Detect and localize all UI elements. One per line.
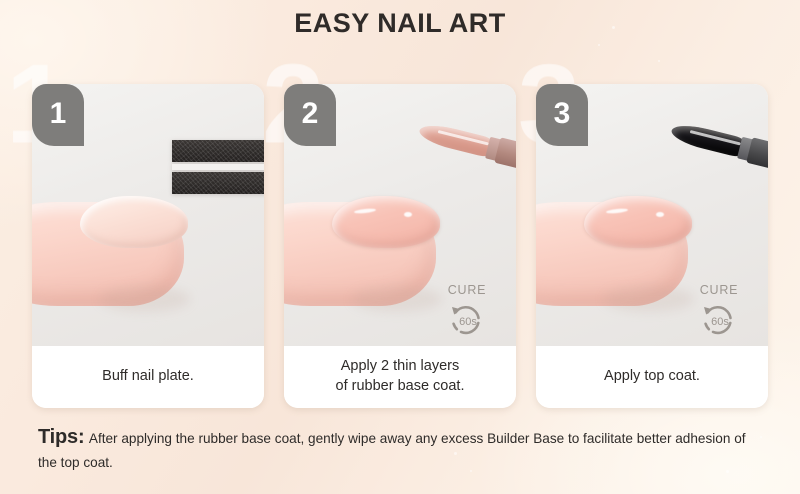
step-2-photo: 2 CURE 60s xyxy=(284,84,516,346)
cure-time-text: 60s xyxy=(459,316,477,328)
base-coated-nail xyxy=(332,196,440,248)
step-1-caption: Buff nail plate. xyxy=(32,346,264,408)
page-title: EASY NAIL ART xyxy=(0,8,800,39)
finger-illustration xyxy=(32,202,184,306)
nail-shine-highlight xyxy=(606,208,628,214)
step-3-photo: 3 CURE 60s xyxy=(536,84,768,346)
cure-badge-3: CURE 60s xyxy=(682,283,756,340)
brush-bristle xyxy=(669,121,748,159)
nail-shine-highlight xyxy=(354,208,376,214)
step-2-caption: Apply 2 thin layers of rubber base coat. xyxy=(284,346,516,408)
nail-shine-highlight xyxy=(656,212,664,217)
background-speck xyxy=(658,60,660,62)
tips-label: Tips: xyxy=(38,426,84,448)
tips-body: After applying the rubber base coat, gen… xyxy=(38,431,746,470)
tips-section: Tips: After applying the rubber base coa… xyxy=(38,424,768,474)
step-2-caption-line1: Apply 2 thin layers xyxy=(341,358,459,374)
cure-label: CURE xyxy=(430,283,504,297)
step-number-badge-3: 3 xyxy=(536,84,588,146)
nail-file-gap xyxy=(172,164,264,170)
natural-nail xyxy=(80,196,188,248)
step-1-photo: 1 xyxy=(32,84,264,346)
finger-illustration xyxy=(284,202,436,306)
step-number-badge-1: 1 xyxy=(32,84,84,146)
step-card-3[interactable]: 3 CURE 60s Appl xyxy=(536,84,768,408)
nude-gel-brush-icon xyxy=(410,115,516,176)
step-number-badge-2: 2 xyxy=(284,84,336,146)
nail-shine-highlight xyxy=(404,212,412,217)
nail-file-grit-bottom xyxy=(172,172,264,194)
timer-icon: 60s xyxy=(444,298,490,340)
step-2-caption-line2: of rubber base coat. xyxy=(336,378,465,394)
cure-label: CURE xyxy=(682,283,756,297)
finger-illustration xyxy=(536,202,688,306)
step-3-caption: Apply top coat. xyxy=(536,346,768,408)
timer-icon: 60s xyxy=(696,298,742,340)
top-coated-nail xyxy=(584,196,692,248)
black-gel-brush-icon xyxy=(662,115,768,176)
step-card-1[interactable]: 1 Buff nail plate. xyxy=(32,84,264,408)
step-card-2[interactable]: 2 CURE 60s xyxy=(284,84,516,408)
brush-bristle xyxy=(417,121,496,159)
cure-time-text: 60s xyxy=(711,316,729,328)
steps-container: 1 Buff nail plate. 2 xyxy=(32,84,768,408)
nail-file-grit-top xyxy=(172,140,264,162)
cure-badge-2: CURE 60s xyxy=(430,283,504,340)
nail-file-icon xyxy=(172,140,264,194)
background-speck xyxy=(598,44,600,46)
